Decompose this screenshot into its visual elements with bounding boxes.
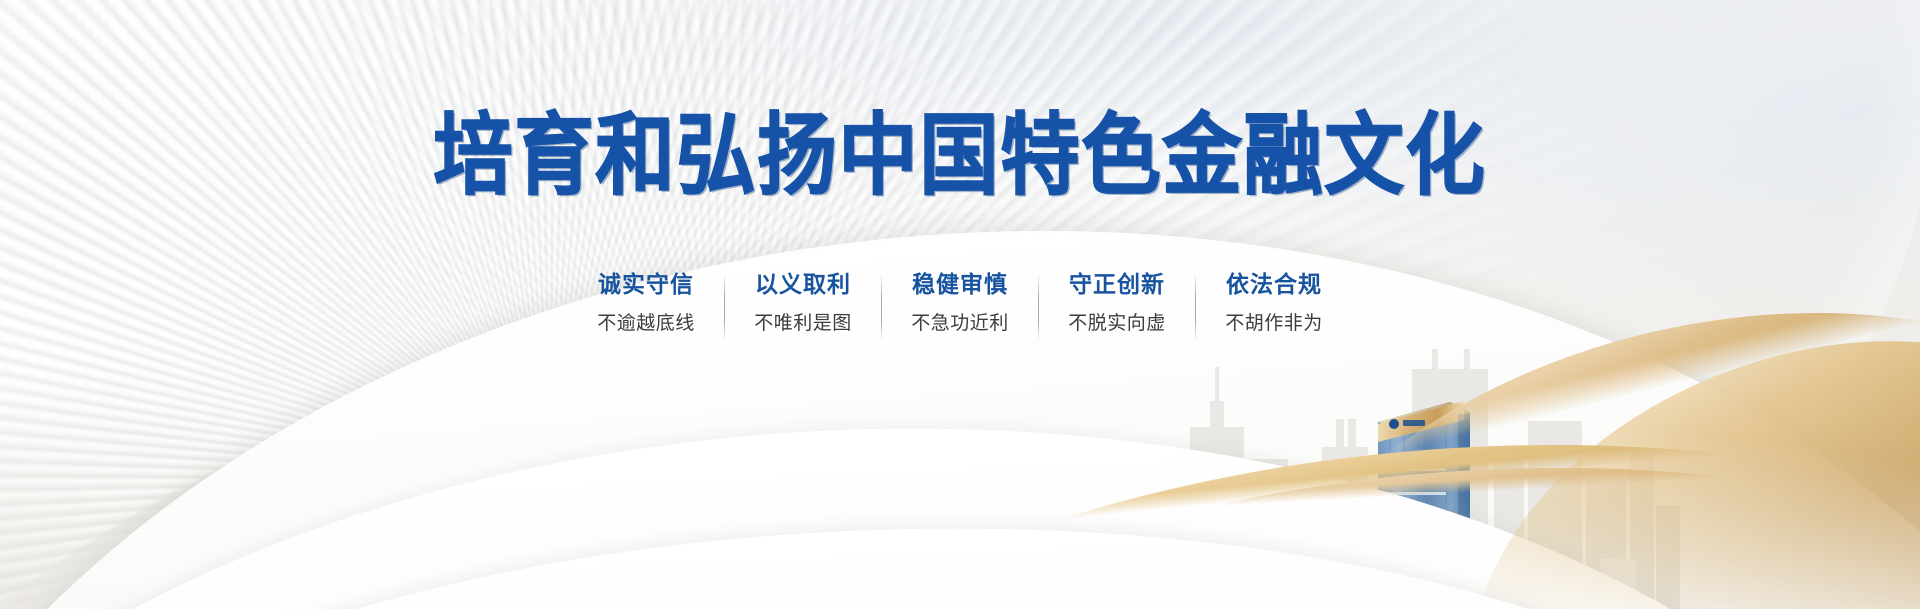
banner-content: 培育和弘扬中国特色金融文化 诚实守信 不逾越底线 以义取利 不唯利是图 稳健审慎… <box>0 0 1920 609</box>
value-caption: 不脱实向虚 <box>1068 312 1166 335</box>
values-row: 诚实守信 不逾越底线 以义取利 不唯利是图 稳健审慎 不急功近利 守正创新 不脱… <box>0 272 1920 340</box>
value-title: 以义取利 <box>755 272 851 299</box>
value-caption: 不急功近利 <box>911 312 1009 335</box>
value-item-yifaheigui: 依法合规 不胡作非为 <box>1196 272 1352 335</box>
value-item-wenjianshenshen: 稳健审慎 不急功近利 <box>882 272 1038 335</box>
value-item-yiyiquli: 以义取利 不唯利是图 <box>725 272 881 335</box>
value-item-shouzhengchuangxin: 守正创新 不脱实向虚 <box>1039 272 1195 335</box>
value-caption: 不胡作非为 <box>1225 312 1323 335</box>
value-item-chengshishouxin: 诚实守信 不逾越底线 <box>568 272 724 335</box>
finance-culture-banner: 培育和弘扬中国特色金融文化 诚实守信 不逾越底线 以义取利 不唯利是图 稳健审慎… <box>0 0 1920 609</box>
value-caption: 不唯利是图 <box>754 312 852 335</box>
value-title: 依法合规 <box>1226 272 1322 299</box>
value-title: 稳健审慎 <box>912 272 1008 299</box>
page-title: 培育和弘扬中国特色金融文化 <box>0 112 1920 200</box>
value-caption: 不逾越底线 <box>597 312 695 335</box>
value-title: 诚实守信 <box>598 272 694 299</box>
value-title: 守正创新 <box>1069 272 1165 299</box>
